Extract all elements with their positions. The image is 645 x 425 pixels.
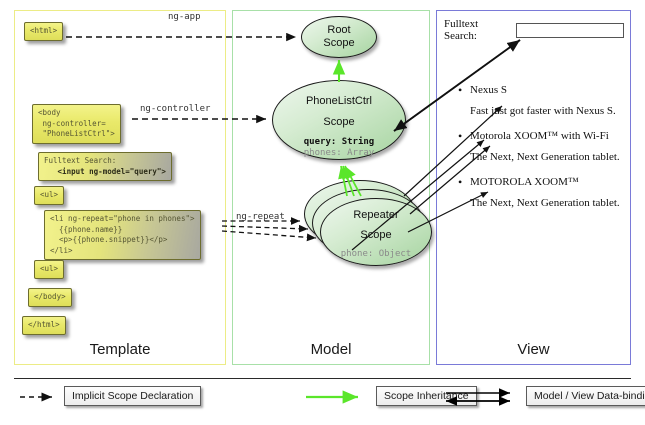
- phone-list-item: MOTOROLA XOOM™ The Next, Next Generation…: [458, 176, 628, 209]
- code-box-ul-open: <ul>: [34, 186, 64, 205]
- ctrl-scope-prop-phones: phones: Array: [273, 148, 405, 159]
- repeater-scope-line1: Repeater: [321, 209, 431, 222]
- angularjs-concepts-diagram: Template Model View <html> <body ng-cont…: [0, 0, 645, 425]
- legend-double-arrow-icon: [440, 386, 522, 408]
- root-scope-line2: Scope: [323, 37, 354, 50]
- legend-dashed-arrow-icon: [18, 386, 62, 408]
- edge-label-ng-repeat: ng-repeat: [236, 212, 285, 222]
- code-box-html-open: <html>: [24, 22, 63, 41]
- code-box-html-close: </html>: [22, 316, 66, 335]
- view-rendered-output: Fulltext Search: Nexus S Fast just got f…: [444, 18, 624, 318]
- ctrl-scope-prop-query: query: String: [273, 137, 405, 148]
- view-search-row: Fulltext Search:: [444, 18, 624, 42]
- code-box-li-ngrepeat: <li ng-repeat="phone in phones"> {{phone…: [44, 210, 201, 260]
- repeater-scope-line2: Scope: [321, 229, 431, 242]
- ellipse-root-scope: Root Scope: [301, 16, 377, 58]
- phone-name: MOTOROLA XOOM™: [458, 176, 628, 188]
- phone-list-item: Motorola XOOM™ with Wi-Fi The Next, Next…: [458, 130, 628, 163]
- ctrl-scope-line1: PhoneListCtrl: [273, 95, 405, 108]
- edge-label-ng-controller: ng-controller: [140, 104, 210, 114]
- root-scope-line1: Root: [327, 24, 350, 37]
- phone-snippet: Fast just got faster with Nexus S.: [458, 105, 628, 117]
- code-box-body-close: </body>: [28, 288, 72, 307]
- legend-divider: [14, 378, 631, 379]
- ellipse-phonelistctrl-scope: PhoneListCtrl Scope query: String phones…: [272, 80, 406, 160]
- repeater-scope-prop-phone: phone: Object: [321, 249, 431, 260]
- code-fulltext-label: Fulltext Search:: [44, 156, 116, 165]
- column-label-view: View: [437, 341, 630, 358]
- phone-list-item: Nexus S Fast just got faster with Nexus …: [458, 84, 628, 117]
- phone-snippet: The Next, Next Generation tablet.: [458, 197, 628, 209]
- view-search-label: Fulltext Search:: [444, 18, 512, 42]
- column-label-model: Model: [233, 341, 429, 358]
- phone-name: Nexus S: [458, 84, 628, 96]
- edge-label-ng-app: ng-app: [168, 12, 201, 22]
- code-box-body-open: <body ng-controller= "PhoneListCtrl">: [32, 104, 121, 144]
- legend-label-implicit-scope-declaration: Implicit Scope Declaration: [64, 386, 201, 406]
- legend-green-arrow-icon: [300, 386, 372, 408]
- ellipse-repeater-scope: Repeater Scope phone: Object: [320, 198, 432, 266]
- ctrl-scope-line2: Scope: [273, 116, 405, 129]
- column-label-template: Template: [15, 341, 225, 358]
- view-search-input[interactable]: [516, 23, 624, 38]
- phone-snippet: The Next, Next Generation tablet.: [458, 151, 628, 163]
- code-box-fulltext-search: Fulltext Search: <input ng-model="query"…: [38, 152, 172, 181]
- code-box-ul-close: <ul>: [34, 260, 64, 279]
- code-fulltext-input: <input ng-model="query">: [44, 167, 166, 176]
- phone-name: Motorola XOOM™ with Wi-Fi: [458, 130, 628, 142]
- legend-label-model-view-data-binding: Model / View Data-binding: [526, 386, 645, 406]
